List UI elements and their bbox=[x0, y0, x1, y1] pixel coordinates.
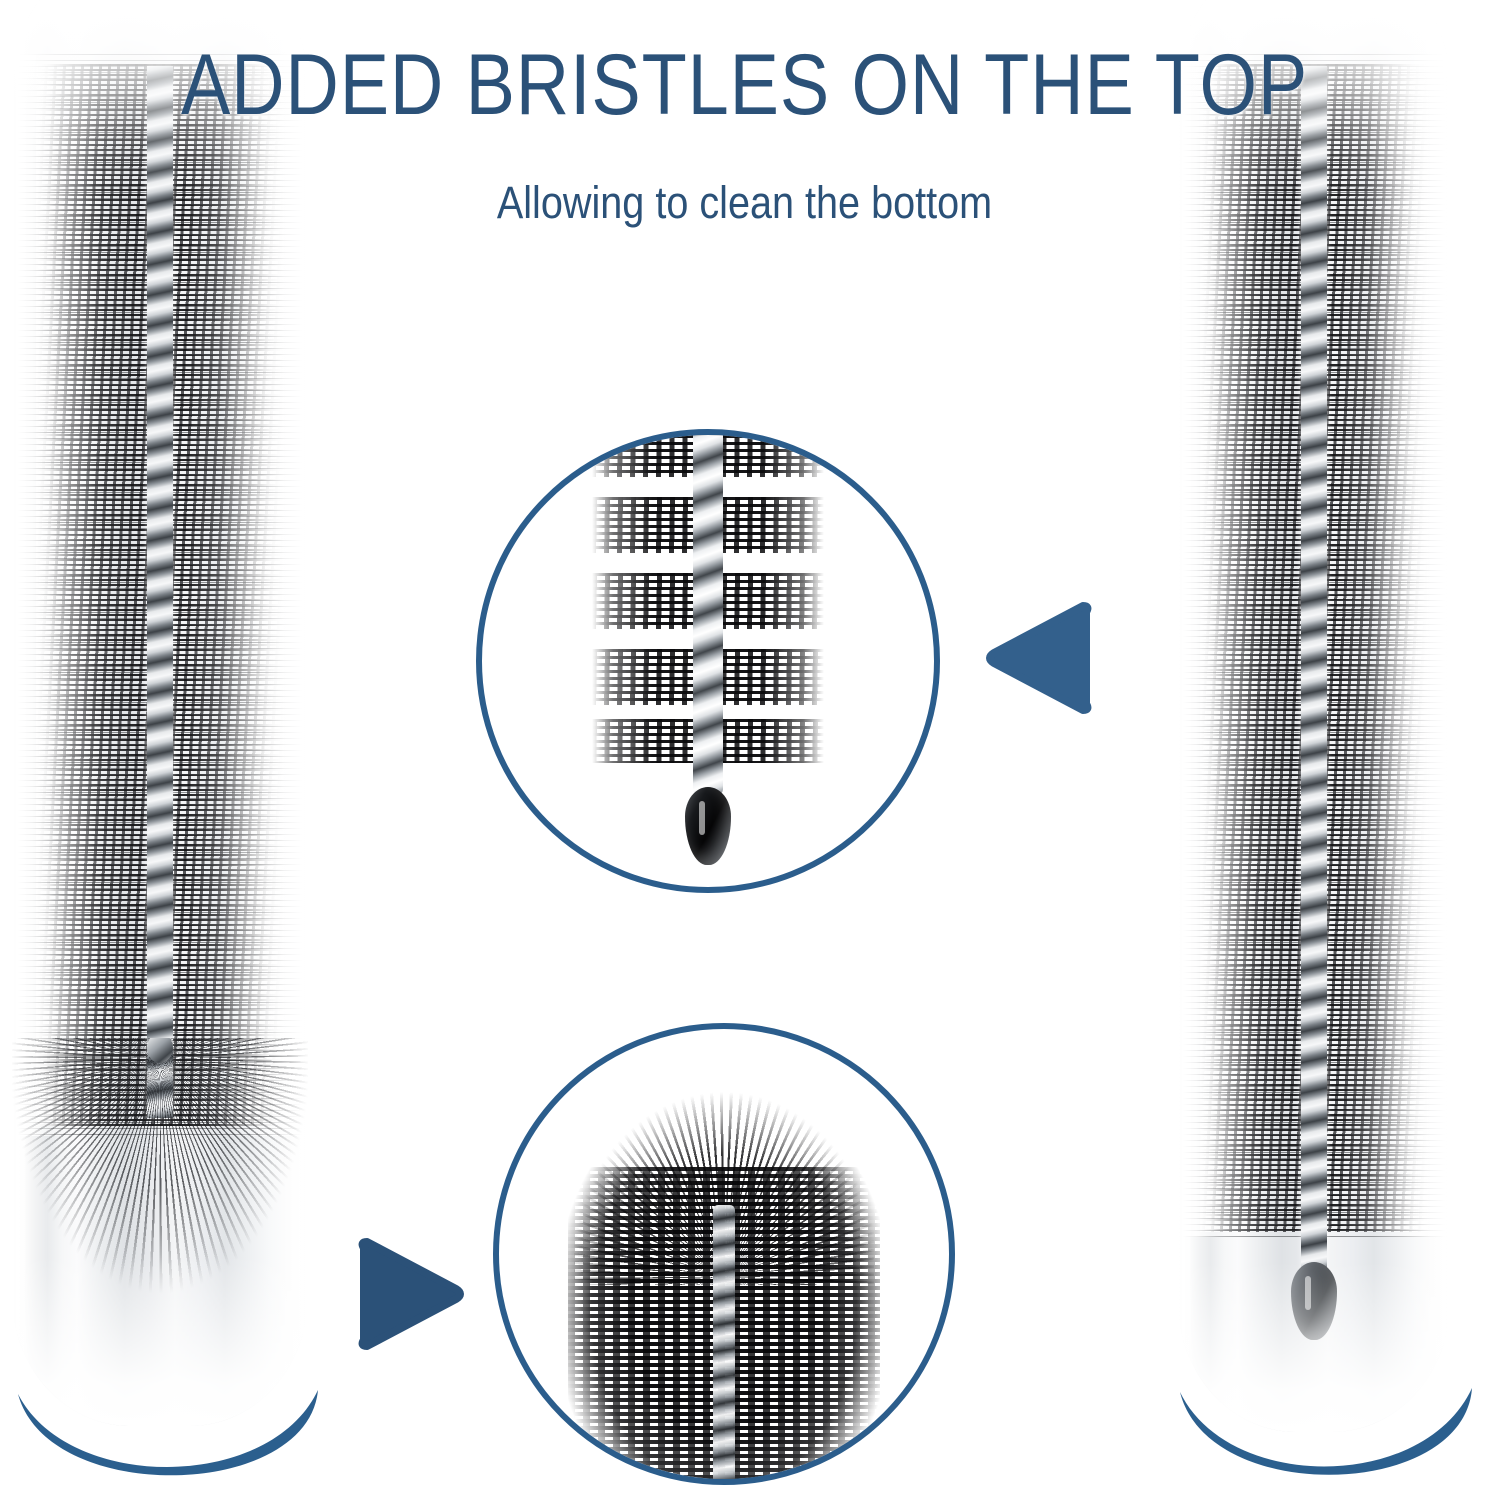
left-brush-bottom-bristle-burst bbox=[12, 1038, 308, 1298]
zoomed-wire-core bbox=[693, 435, 723, 795]
right-brush-teardrop-end-cap bbox=[1291, 1262, 1337, 1340]
brush-head-wire-core bbox=[713, 1205, 735, 1479]
page-title: ADDED BRISTLES ON THE TOP bbox=[104, 42, 1385, 128]
callout-standard-tip-content bbox=[482, 435, 934, 887]
right-brush-wire-core bbox=[1301, 66, 1327, 1282]
callout-added-bristles bbox=[493, 1023, 955, 1485]
left-brush-burst-hub bbox=[147, 1033, 173, 1063]
zoomed-brush-tip bbox=[578, 435, 838, 887]
triangle-left-icon bbox=[982, 602, 1092, 714]
callout-standard-tip bbox=[476, 429, 940, 893]
callout-added-bristles-content bbox=[499, 1029, 949, 1479]
product-feature-graphic: ADDED BRISTLES ON THE TOP Allowing to cl… bbox=[0, 0, 1489, 1500]
triangle-right-icon bbox=[358, 1238, 468, 1350]
swoosh-under-left-brush bbox=[8, 1388, 328, 1500]
swoosh-under-right-brush bbox=[1172, 1388, 1482, 1500]
zoomed-brush-head bbox=[568, 1085, 880, 1479]
zoomed-teardrop-end-cap bbox=[685, 787, 731, 865]
page-subtitle: Allowing to clean the bottom bbox=[89, 180, 1399, 225]
